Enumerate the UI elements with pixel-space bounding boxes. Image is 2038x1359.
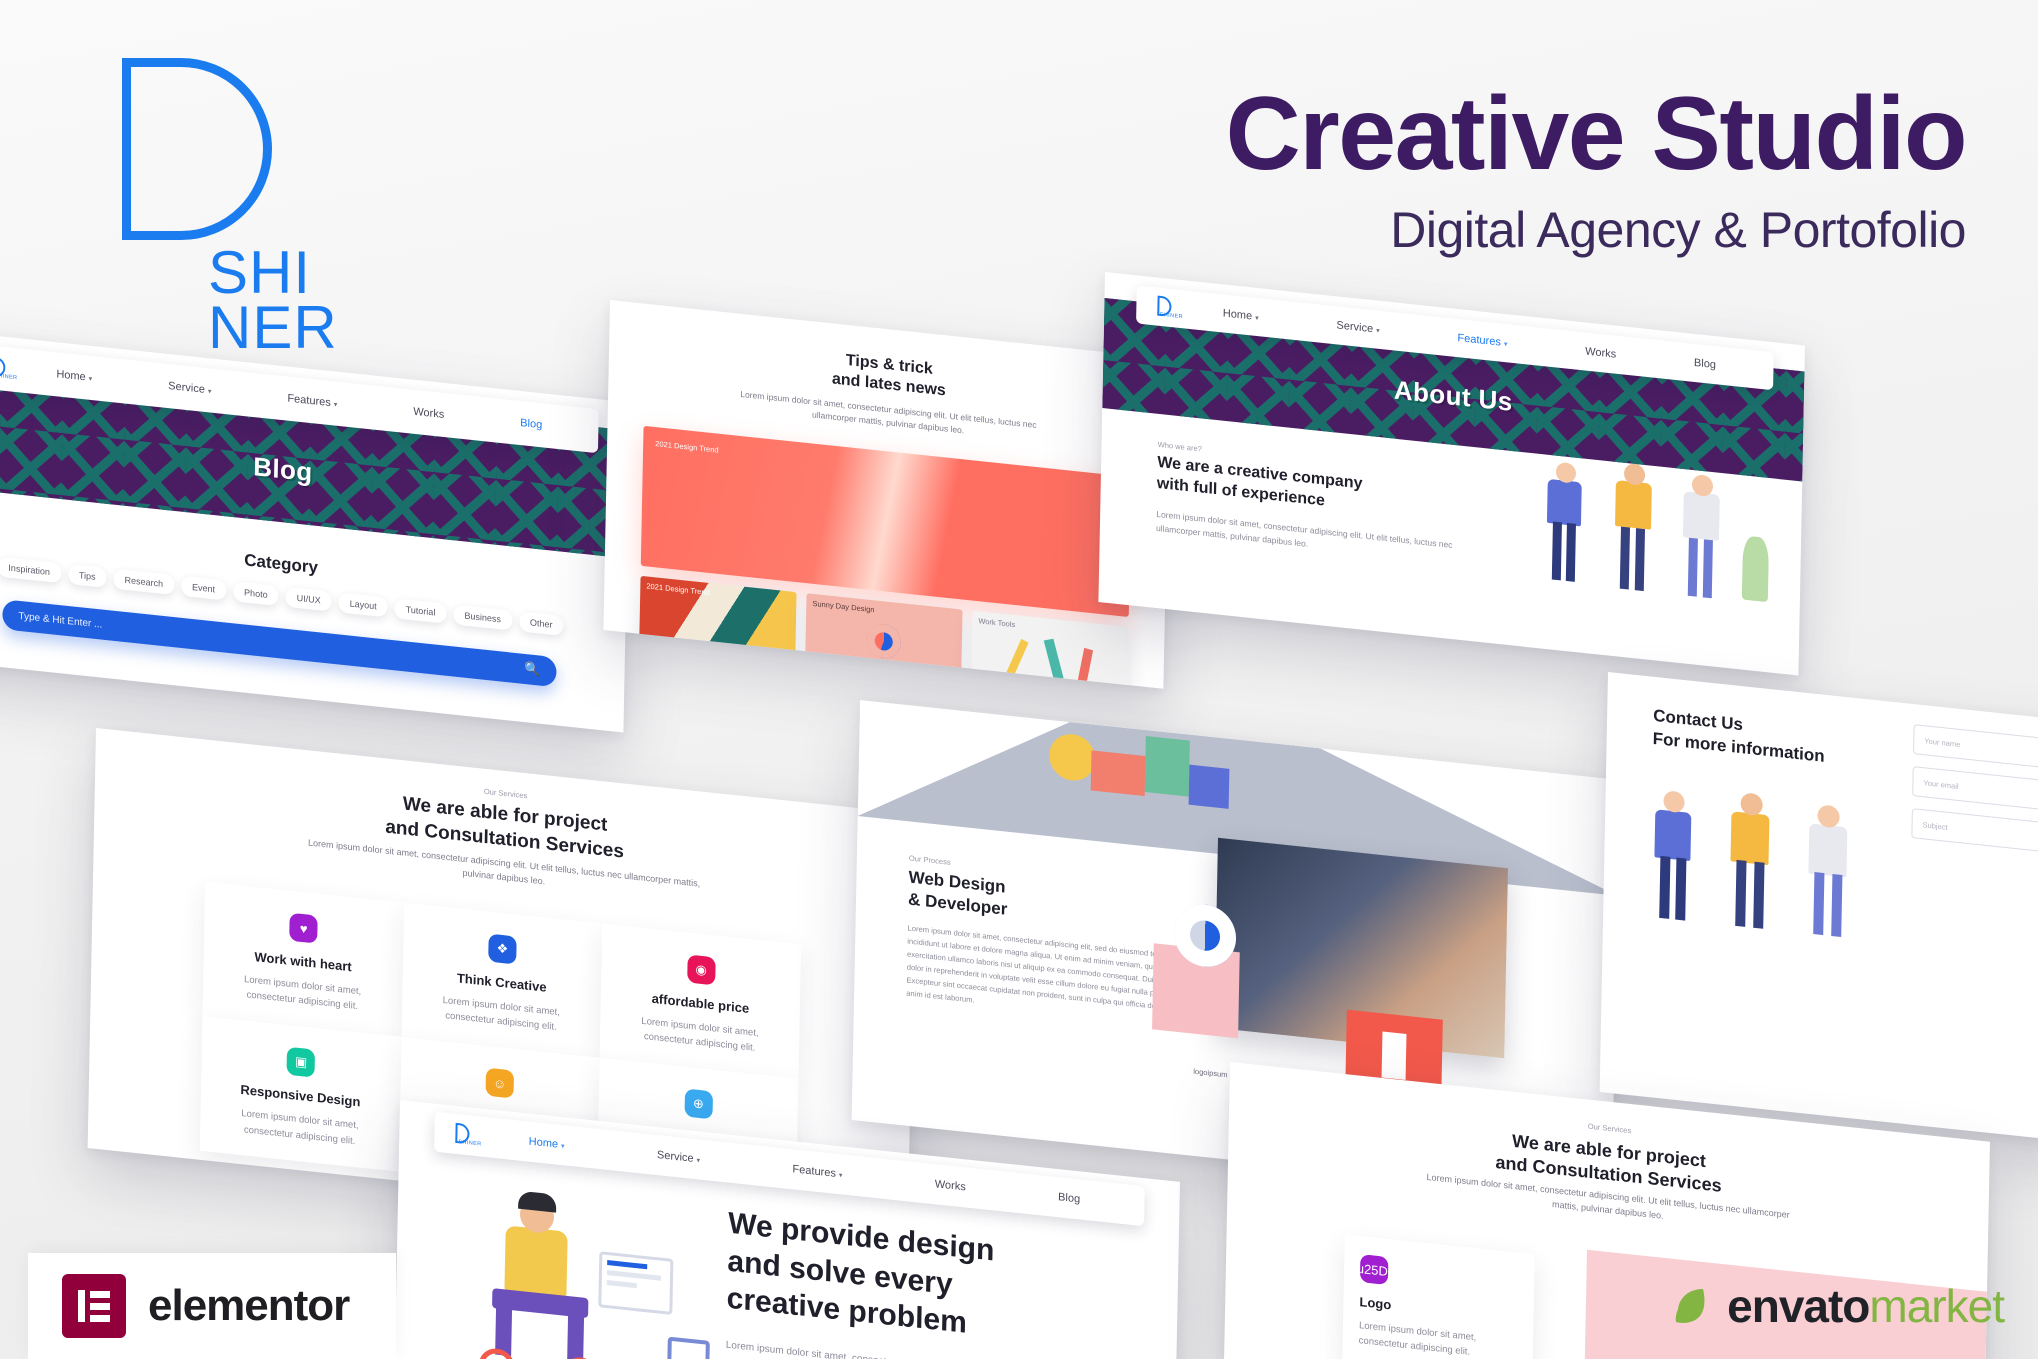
nav-service[interactable]: Service▾: [1336, 319, 1379, 336]
home-hero-title: We provide design and solve every creati…: [726, 1205, 1128, 1359]
envato-word: envato: [1727, 1280, 1869, 1332]
slide-tips-and-news[interactable]: Tips & trickand lates news Lorem ipsum d…: [603, 300, 1170, 689]
logo-card-text: Lorem ipsum dolor sit amet, consectetur …: [1359, 1318, 1518, 1359]
envato-market-badge: envatomarket: [1671, 1279, 2004, 1333]
slide-about-us[interactable]: SHINER Home▾ Service▾ Features▾ Works Bl…: [1098, 272, 1805, 676]
elementor-badge: elementor: [28, 1253, 396, 1359]
tips-feature-label: 2021 Design Trend: [655, 439, 719, 455]
heart-icon: ♥: [289, 913, 318, 944]
globe-icon: ⊕: [684, 1089, 713, 1120]
service-card[interactable]: ❖ Think Creative Lorem ipsum dolor sit a…: [401, 903, 602, 1058]
service-card-text: Lorem ipsum dolor sit amet, consectetur …: [216, 1104, 383, 1152]
logo-icon: \u25D0: [1360, 1254, 1389, 1285]
nav-features[interactable]: Features▾: [1457, 332, 1507, 349]
service-card-text: Lorem ipsum dolor sit amet, consectetur …: [417, 990, 584, 1038]
contact-subject-placeholder: Subject: [1923, 820, 1948, 832]
chevron-down-icon: ▾: [208, 388, 212, 395]
chevron-down-icon: ▾: [697, 1157, 701, 1164]
nav-home[interactable]: Home▾: [1223, 307, 1259, 323]
envato-leaf-icon: [1671, 1284, 1715, 1328]
elementor-logo-icon: [62, 1274, 126, 1338]
contact-name-placeholder: Your name: [1924, 736, 1960, 749]
nav-home[interactable]: Home▾: [529, 1136, 565, 1152]
contact-title: Contact UsFor more information: [1653, 705, 1826, 769]
chip-layout[interactable]: Layout: [338, 592, 387, 617]
white-bar-shape: [1382, 1031, 1407, 1080]
chip-research[interactable]: Research: [113, 569, 174, 595]
chevron-down-icon: ▾: [1255, 315, 1259, 322]
nav-works[interactable]: Works: [1585, 345, 1616, 360]
site-logo-icon: SHINER: [1154, 293, 1185, 322]
market-word: market: [1869, 1280, 2004, 1332]
service-card[interactable]: ▣ Responsive Design Lorem ipsum dolor si…: [200, 1016, 401, 1171]
service-card[interactable]: ◉ affordable price Lorem ipsum dolor sit…: [600, 923, 801, 1078]
nav-works[interactable]: Works: [935, 1178, 966, 1193]
bulb-icon: ❖: [488, 934, 517, 965]
home-hero-illustration: [454, 1184, 728, 1359]
device-icon: ▣: [287, 1047, 316, 1078]
slide-contact[interactable]: Contact UsFor more information Your name…: [1600, 672, 2038, 1151]
client-logo-1: logoipsum: [1193, 1067, 1227, 1080]
donut-shape: [866, 622, 901, 660]
service-card[interactable]: ♥ Work with heart Lorem ipsum dolor sit …: [202, 882, 403, 1037]
chip-inspiration[interactable]: Inspiration: [0, 557, 61, 584]
nav-features[interactable]: Features▾: [287, 393, 337, 410]
nav-works[interactable]: Works: [413, 406, 444, 421]
ruler-shape: [1044, 638, 1066, 687]
contact-email-placeholder: Your email: [1923, 778, 1958, 791]
service-card-text: Lorem ipsum dolor sit amet, consectetur …: [219, 969, 386, 1017]
nav-features[interactable]: Features▾: [792, 1163, 842, 1180]
chevron-down-icon: ▾: [89, 376, 93, 383]
chip-event[interactable]: Event: [181, 576, 226, 601]
logo-service-card[interactable]: \u25D0 Logo Lorem ipsum dolor sit amet, …: [1342, 1234, 1535, 1359]
contact-subject-field[interactable]: Subject: [1911, 808, 2038, 862]
about-illustration: [1529, 457, 1782, 653]
chip-tips[interactable]: Tips: [68, 564, 107, 588]
mockup-collage: SHINER Home▾ Service▾ Features▾ Works Bl…: [0, 0, 2038, 1359]
tips-thumb-2-label: Sunny Day Design: [812, 599, 874, 615]
chevron-down-icon: ▾: [334, 401, 338, 408]
elementor-label: elementor: [148, 1281, 349, 1331]
tips-thumb-2[interactable]: Sunny Day Design: [805, 593, 963, 685]
site-logo-icon: SHINER: [452, 1121, 483, 1150]
chevron-down-icon: ▾: [561, 1143, 565, 1150]
tips-thumb-3-label: Work Tools: [978, 616, 1015, 629]
support-icon: ☺: [485, 1068, 514, 1099]
chevron-down-icon: ▾: [839, 1172, 843, 1179]
chip-photo[interactable]: Photo: [233, 581, 279, 606]
nav-blog[interactable]: Blog: [520, 417, 542, 431]
tips-thumb-1[interactable]: 2021 Design Trend: [639, 576, 797, 668]
site-logo-icon: SHINER: [0, 354, 19, 383]
chevron-down-icon: ▾: [1376, 328, 1380, 335]
service-card-text: Lorem ipsum dolor sit amet, consectetur …: [616, 1011, 783, 1059]
clip-shape: [1077, 648, 1093, 685]
envato-market-label: envatomarket: [1727, 1279, 2004, 1333]
tips-thumb-1-label: 2021 Design Trend: [646, 581, 710, 597]
search-placeholder: Type & Hit Enter ...: [18, 610, 102, 630]
pencil-shape: [1004, 639, 1028, 680]
nav-service[interactable]: Service▾: [168, 380, 211, 397]
search-icon[interactable]: 🔍: [524, 661, 541, 679]
nav-blog[interactable]: Blog: [1058, 1191, 1080, 1205]
nav-service[interactable]: Service▾: [657, 1149, 700, 1166]
chevron-down-icon: ▾: [1504, 341, 1508, 348]
tag-icon: ◉: [687, 954, 716, 985]
chip-tutorial[interactable]: Tutorial: [394, 598, 446, 623]
chip-business[interactable]: Business: [453, 604, 512, 630]
contact-illustration: [1642, 784, 1916, 992]
chip-other[interactable]: Other: [519, 611, 564, 636]
nav-home[interactable]: Home▾: [56, 368, 92, 384]
chip-uiux[interactable]: UI/UX: [285, 587, 331, 612]
nav-blog[interactable]: Blog: [1694, 357, 1716, 371]
slide-blog[interactable]: SHINER Home▾ Service▾ Features▾ Works Bl…: [0, 330, 630, 732]
tips-thumb-3[interactable]: Work Tools: [971, 611, 1129, 689]
